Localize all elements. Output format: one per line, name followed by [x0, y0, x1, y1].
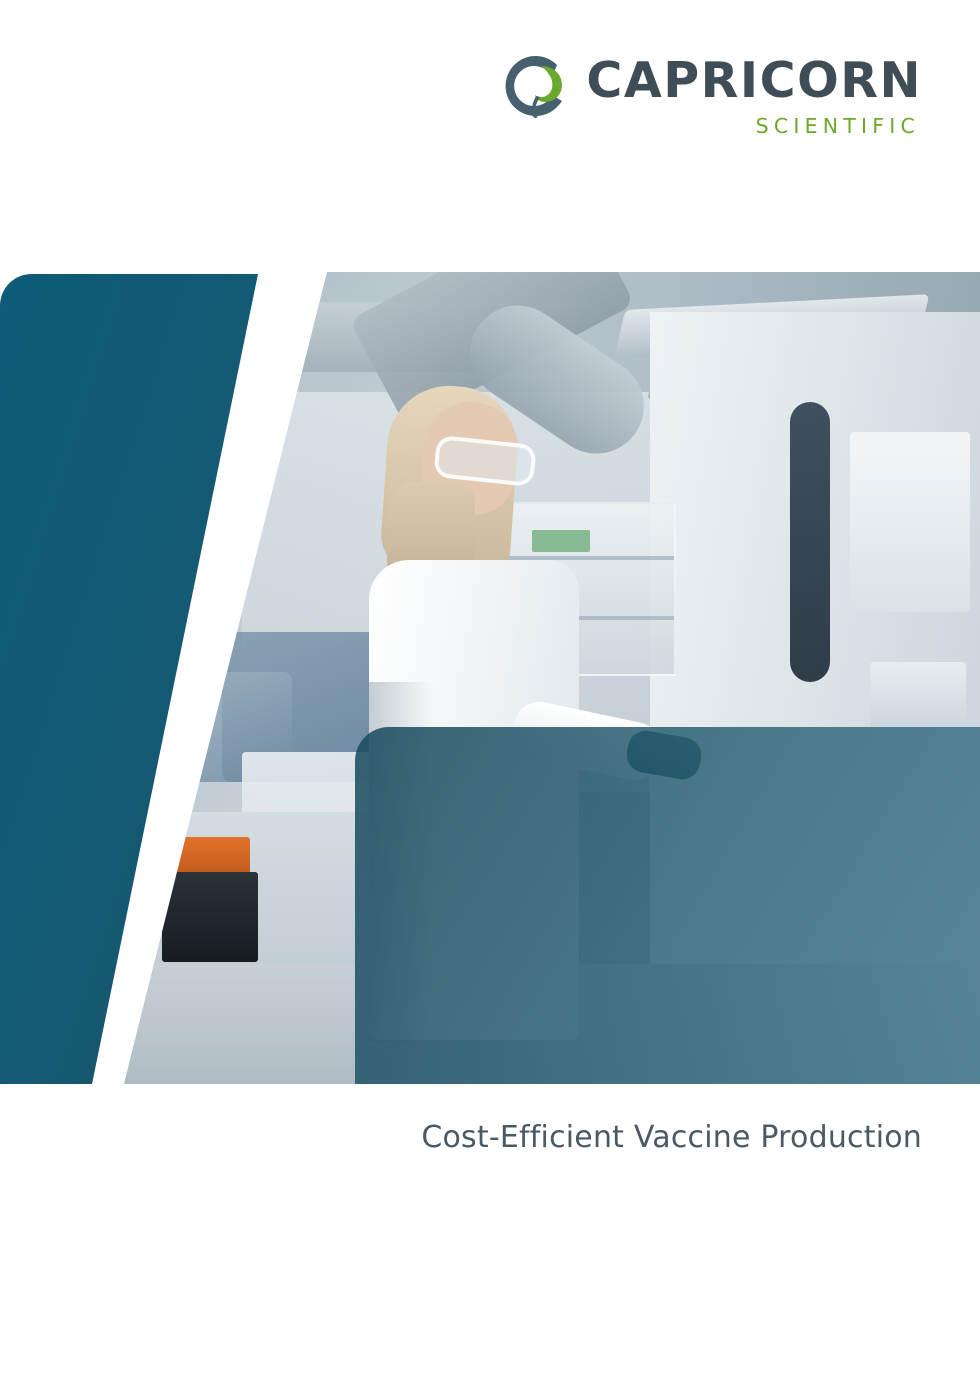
- hero-title-group: Vero Expression Developed Performance: [499, 1079, 920, 1084]
- hero-title-card: Vero Expression Developed Performance: [355, 727, 980, 1084]
- logo-subtitle: SCIENTIFIC: [586, 114, 922, 138]
- brand-logo: CAPRICORN SCIENTIFIC: [500, 52, 922, 138]
- hero-banner: Vero Expression Developed Performance: [0, 272, 980, 1084]
- logo-wordmark: CAPRICORN: [586, 56, 922, 105]
- logo-wordmark-group: CAPRICORN SCIENTIFIC: [586, 52, 922, 138]
- capricorn-goat-mark-icon: [500, 52, 572, 120]
- hero-title: Vero Expression: [499, 1079, 920, 1084]
- footer-tagline: Cost-Efficient Vaccine Production: [421, 1120, 922, 1155]
